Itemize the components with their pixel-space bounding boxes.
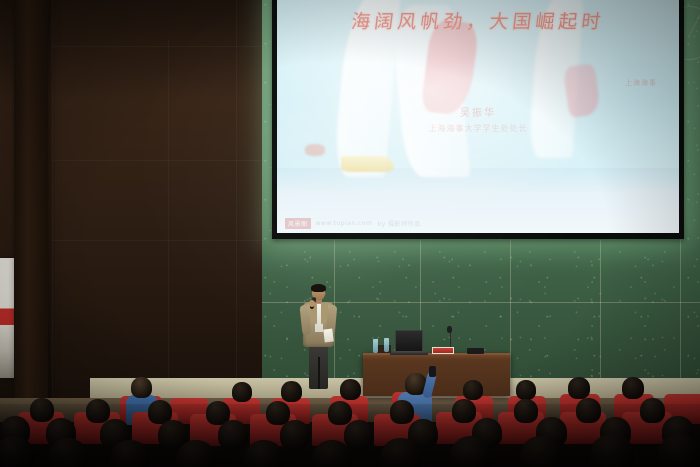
attendee-head (110, 440, 150, 467)
attendee-head (658, 434, 700, 467)
attendee-head (340, 379, 361, 400)
attendee-head (30, 398, 54, 422)
attendee-head (48, 438, 88, 467)
slide-brandmark: 上海海事 (625, 78, 657, 88)
attendee-head (640, 398, 665, 423)
attendee-head (622, 377, 644, 399)
tile-seam (510, 240, 511, 392)
attendee-head (131, 377, 152, 398)
presenter-table (363, 353, 510, 396)
slide-presenter-org: 上海海事大学学生处处长 (429, 123, 528, 134)
wall-panel-seam (52, 160, 280, 161)
tile-seam (600, 240, 601, 392)
wall-pillar (14, 0, 48, 410)
watermark-url: www.tupian.com (316, 220, 373, 227)
attendee-head (568, 377, 590, 399)
slide-presenter-name: 吴振华 (429, 104, 528, 119)
watermark-credit: by 摄影师作品 (377, 219, 420, 228)
watermark-tag: 风景图 (285, 218, 311, 229)
projection-screen-surface: 海阔风帆劲，大国崛起时 吴振华 上海海事大学学生处处长 上海海事 风景图 www… (277, 0, 679, 233)
slide-presenter-block: 吴振华 上海海事大学学生处处长 (429, 104, 528, 134)
wall-panel-seam (168, 40, 169, 400)
attendee-head (450, 436, 492, 467)
water-bottle (384, 338, 389, 352)
wall-panel-seam (52, 240, 280, 241)
gooseneck-microphone-head (447, 326, 452, 333)
attendee-head (328, 401, 352, 425)
laptop-icon (395, 330, 423, 353)
attendee-head (590, 434, 634, 467)
slide-watermark: 风景图 www.tupian.com by 摄影师作品 (285, 218, 421, 229)
red-name-plate (432, 347, 454, 354)
wall-panel-seam (52, 0, 53, 400)
attendee-head (86, 399, 110, 423)
laptop-base (390, 351, 428, 355)
side-banner (0, 258, 14, 378)
attendee-head (280, 420, 310, 450)
attendee-head (520, 436, 562, 467)
attendee-head (516, 380, 536, 400)
projection-screen: 海阔风帆劲，大国崛起时 吴振华 上海海事大学学生处处长 上海海事 风景图 www… (272, 0, 684, 239)
attendee-head (452, 399, 476, 423)
attendee-head (390, 400, 414, 424)
slide-title: 海阔风帆劲，大国崛起时 (277, 7, 679, 34)
wall-panel-seam (52, 46, 280, 47)
attendee-head (514, 399, 538, 423)
attendee-head (344, 420, 374, 450)
attendee-head (232, 382, 252, 402)
presenter-notes (323, 329, 334, 343)
presenter-hair (311, 284, 326, 292)
attendee-head (463, 380, 483, 400)
presenter-hand (309, 300, 315, 307)
attendee-head (281, 381, 302, 402)
attendee-head (576, 398, 601, 423)
phone-icon (429, 366, 436, 377)
auditorium-scene: 海阔风帆劲，大国崛起时 吴振华 上海海事大学学生处处长 上海海事 风景图 www… (0, 0, 700, 467)
attendee-head (218, 420, 248, 450)
presenter-leg-split (318, 357, 320, 389)
remote-clicker (467, 348, 484, 354)
presenter-figure (300, 285, 336, 391)
wall-panel-seam (236, 0, 237, 400)
water-bottle (373, 339, 378, 353)
